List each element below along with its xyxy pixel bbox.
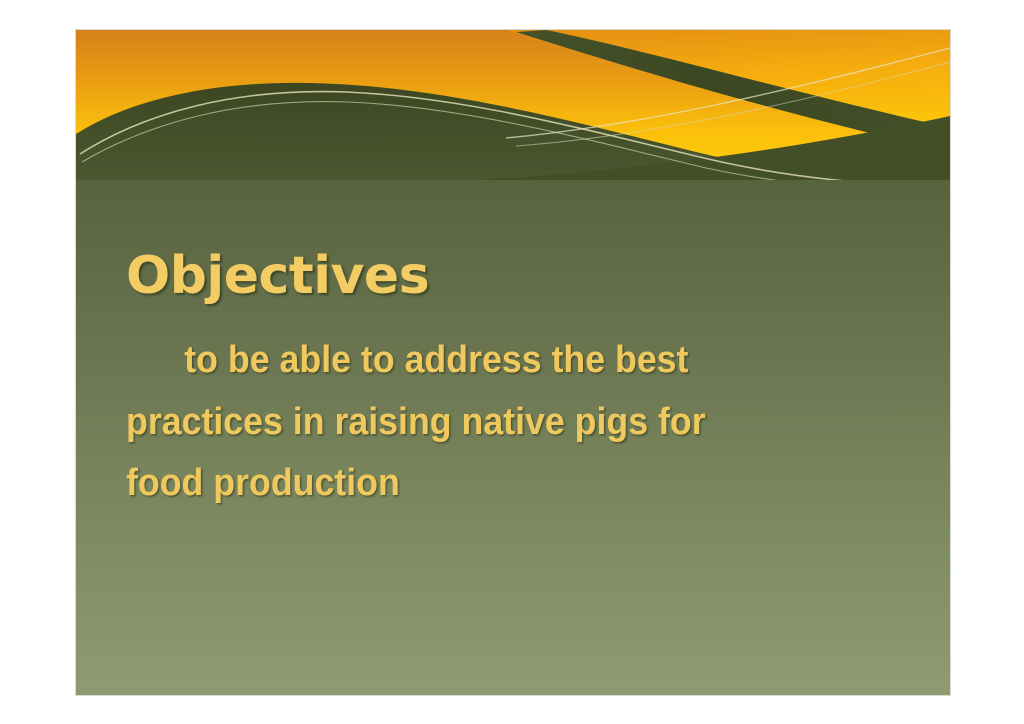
slide-page: Objectives to be able to address the bes… — [0, 0, 1024, 724]
body-line-2: practices in raising native pigs for — [126, 392, 869, 454]
presentation-slide: Objectives to be able to address the bes… — [76, 30, 950, 695]
slide-text-block: Objectives to be able to address the bes… — [126, 250, 916, 515]
page-title: Objectives — [126, 250, 916, 302]
body-line-1: to be able to address the best — [126, 330, 869, 392]
body-line-3: food production — [126, 453, 869, 515]
decorative-wave-artwork — [76, 30, 950, 180]
slide-body-text: to be able to address the best practices… — [126, 330, 869, 515]
